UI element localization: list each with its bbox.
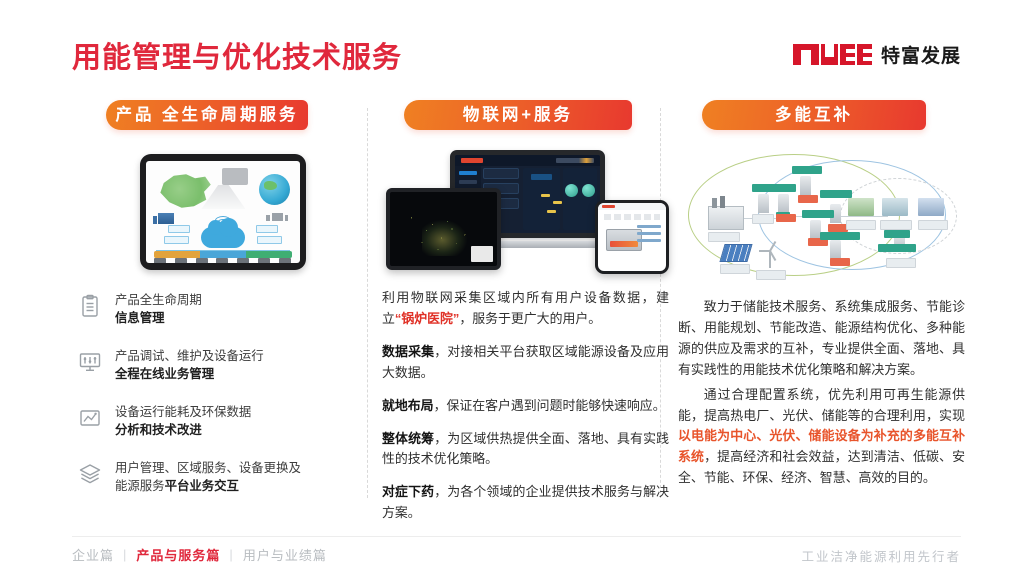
paragraph-text-after: ，提高经济和社会效益，达到清洁、低碳、安全、节能、环保、经济、智慧、高效的目的。	[678, 449, 965, 485]
columns-container: 产品 全生命周期服务	[0, 100, 1033, 505]
dashboard-flow-graph	[523, 168, 560, 230]
diagram-label-teal	[820, 190, 852, 198]
phone-device	[595, 200, 669, 274]
feature-line-2: 全程在线业务管理	[115, 367, 214, 381]
feature-text: 产品全生命周期 信息管理	[115, 292, 202, 328]
diagram-label-red	[828, 224, 848, 232]
pipes-graphic	[637, 225, 661, 253]
breadcrumb-item-company[interactable]: 企业篇	[72, 545, 114, 564]
column-banner-2: 物联网+服务	[404, 100, 632, 130]
tablet-cloud-platform-diagram	[78, 148, 365, 278]
diagram-label-gray	[880, 220, 912, 230]
slide: 用能管理与优化技术服务 特富发展 产品 全生命周期服务	[0, 0, 1033, 587]
diagram-label-teal	[878, 244, 916, 252]
feature-line-1: 用户管理、区域服务、设备更换及	[115, 461, 301, 475]
paragraph-targeted-solution: 对症下药，为各个领域的企业提供技术服务与解决方案。	[382, 482, 669, 524]
clipboard-icon	[78, 294, 102, 318]
column-lifecycle-service: 产品 全生命周期服务	[78, 100, 365, 505]
tag-left-1	[168, 225, 190, 233]
paragraph-lead: 数据采集	[382, 344, 434, 359]
multi-energy-network-diagram	[678, 148, 965, 283]
solar-panel-icon	[719, 244, 752, 262]
tablet-device	[140, 154, 306, 270]
cloud-icon	[201, 227, 245, 248]
feature-text: 产品调试、维护及设备运行 全程在线业务管理	[115, 348, 264, 384]
page-title: 用能管理与优化技术服务	[72, 34, 402, 76]
breadcrumb-separator: |	[123, 547, 127, 562]
breadcrumb: 企业篇 | 产品与服务篇 | 用户与业绩篇	[72, 545, 327, 564]
diagram-label-teal	[820, 232, 860, 240]
feature-text: 用户管理、区域服务、设备更换及 能源服务平台业务交互	[115, 460, 301, 496]
company-logo: 特富发展	[793, 41, 961, 68]
tag-left-2	[164, 236, 189, 244]
feature-item-lifecycle-info: 产品全生命周期 信息管理	[78, 292, 365, 328]
feature-line-2: 平台业务交互	[165, 479, 239, 493]
banner-wrap-1: 产品 全生命周期服务	[78, 100, 365, 134]
diagram-label-gray	[720, 264, 750, 274]
feature-line-1: 设备运行能耗及环保数据	[115, 405, 251, 419]
feature-item-platform-interaction: 用户管理、区域服务、设备更换及 能源服务平台业务交互	[78, 460, 365, 496]
paragraph-highlight: “锅炉医院”	[395, 311, 459, 326]
energy-tower-icon	[758, 194, 769, 213]
breadcrumb-separator: |	[229, 547, 233, 562]
tuff-logomark-icon	[793, 44, 872, 65]
feature-line-1: 产品全生命周期	[115, 293, 202, 307]
banner-wrap-2: 物联网+服务	[382, 100, 669, 134]
map-legend	[471, 246, 493, 262]
logo-company-name: 特富发展	[881, 41, 961, 68]
phone-tabs	[604, 214, 660, 220]
diagram-label-gray	[846, 220, 876, 230]
breadcrumb-item-products-services[interactable]: 产品与服务篇	[136, 545, 220, 564]
energy-tower-icon	[800, 176, 811, 195]
diagram-label-gray	[752, 214, 774, 224]
banner-wrap-3: 多能互补	[678, 100, 965, 134]
factory-icon	[158, 213, 174, 224]
footer-divider	[72, 536, 961, 537]
phone-screen	[598, 203, 666, 271]
building-icon	[882, 198, 908, 216]
energy-tower-icon	[830, 240, 841, 259]
network-diagram	[680, 148, 963, 280]
tablet-screen-map	[390, 192, 497, 266]
diagram-label-teal	[752, 184, 796, 192]
dashboard-topbar	[455, 155, 600, 166]
globe-icon	[259, 174, 290, 205]
column-iot-service: 物联网+服务	[382, 100, 669, 505]
breadcrumb-item-customers-performance[interactable]: 用户与业绩篇	[243, 545, 327, 564]
paragraph-text: ，保证在客户遇到问题时能够快速响应。	[434, 398, 666, 413]
feature-item-online-management: 产品调试、维护及设备运行 全程在线业务管理	[78, 348, 365, 384]
multi-energy-body-text: 致力于储能技术服务、系统集成服务、节能诊断、用能规划、节能改造、能源结构优化、多…	[678, 297, 965, 489]
chart-image-icon	[78, 406, 102, 430]
paragraph-lead: 对症下药	[382, 484, 434, 499]
diagram-label-teal	[792, 166, 822, 174]
tablet-screen	[146, 161, 300, 263]
diagram-label-red	[830, 258, 850, 266]
dashboard-gauges	[563, 168, 597, 230]
diagram-label-gray	[886, 258, 916, 268]
feature-line-2: 信息管理	[115, 311, 165, 325]
feature-line-1: 产品调试、维护及设备运行	[115, 349, 264, 363]
building-icon	[918, 198, 944, 216]
devices-icon	[266, 213, 288, 221]
feature-list: 产品全生命周期 信息管理	[78, 292, 365, 496]
energy-tower-icon	[778, 194, 789, 213]
layers-icon	[78, 462, 102, 486]
diagram-label-teal	[884, 230, 910, 238]
slide-footer: 企业篇 | 产品与服务篇 | 用户与业绩篇 工业洁净能源利用先行者	[0, 545, 1033, 569]
diagram-label-red	[776, 214, 796, 222]
tag-right-2	[257, 236, 282, 244]
paragraph-overall-planning: 整体统筹，为区域供热提供全面、落地、具有实践性的技术优化策略。	[382, 429, 669, 471]
paragraph-lead: 就地布局	[382, 398, 434, 413]
paragraph-lead: 整体统筹	[382, 431, 434, 446]
column-banner-3: 多能互补	[702, 100, 926, 130]
diagram-label-gray	[708, 232, 740, 242]
devices-dashboard-mockup	[382, 148, 669, 278]
paragraph-renewable-config: 通过合理配置系统，优先利用可再生能源供能，提高热电厂、光伏、储能等的合理利用，实…	[678, 385, 965, 490]
footer-tagline: 工业洁净能源利用先行者	[801, 546, 961, 565]
diagram-label-teal	[802, 210, 834, 218]
slide-header: 用能管理与优化技术服务 特富发展	[0, 34, 1033, 80]
power-plant-icon	[708, 206, 744, 230]
paragraph-iot-intro: 利用物联网采集区域内所有用户设备数据，建立“锅炉医院”，服务于更广大的用户。	[382, 288, 669, 330]
column-multi-energy: 多能互补	[678, 100, 965, 505]
category-bars	[154, 251, 292, 258]
diagram-label-red	[798, 195, 818, 203]
column-banner-1: 产品 全生命周期服务	[106, 100, 308, 130]
paragraph-local-deployment: 就地布局，保证在客户遇到问题时能够快速响应。	[382, 396, 669, 417]
monitor-settings-icon	[78, 350, 102, 374]
feature-text: 设备运行能耗及环保数据 分析和技术改进	[115, 404, 251, 440]
phone-topbar	[598, 203, 666, 210]
paragraph-text-before: 通过合理配置系统，优先利用可再生能源供能，提高热电厂、光伏、储能等的合理利用，实…	[678, 387, 965, 423]
tablet-device-map	[386, 188, 501, 270]
column-divider-1	[367, 108, 368, 498]
feature-line-2-prefix: 能源服务	[115, 479, 165, 493]
paragraph-energy-services: 致力于储能技术服务、系统集成服务、节能诊断、用能规划、节能改造、能源结构优化、多…	[678, 297, 965, 381]
server-icon	[222, 168, 248, 185]
paragraph-data-collection: 数据采集，对接相关平台获取区域能源设备及应用大数据。	[382, 342, 669, 384]
feature-line-2: 分析和技术改进	[115, 423, 202, 437]
tag-right-1	[256, 225, 278, 233]
link-line	[836, 216, 888, 217]
wind-turbine-icon	[762, 246, 778, 268]
feature-item-data-analysis: 设备运行能耗及环保数据 分析和技术改进	[78, 404, 365, 440]
diagram-label-gray	[918, 220, 948, 230]
building-icon	[848, 198, 874, 216]
diagram-label-gray	[756, 270, 786, 280]
paragraph-text-after: ，服务于更广大的用户。	[459, 311, 601, 326]
iot-body-text: 利用物联网采集区域内所有用户设备数据，建立“锅炉医院”，服务于更广大的用户。 数…	[382, 288, 669, 524]
beam-graphic	[201, 185, 245, 209]
